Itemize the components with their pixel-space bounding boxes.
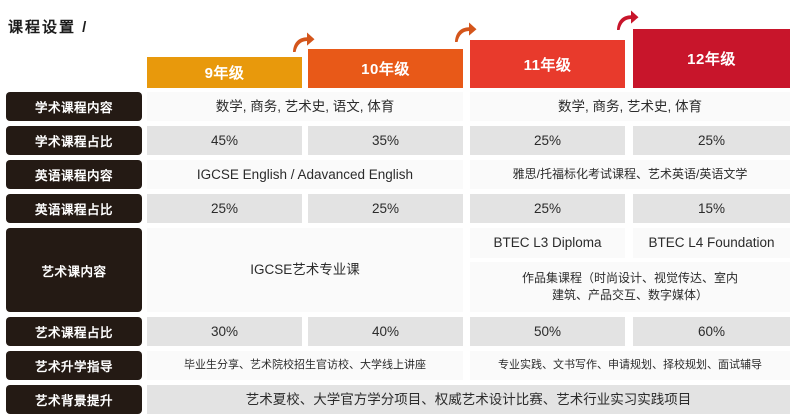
row-label-academic-ratio: 学术课程占比 — [6, 126, 142, 155]
cell-text: 毕业生分享、艺术院校招生官访校、大学线上讲座 — [184, 358, 426, 374]
row-label-text: 英语课程内容 — [35, 165, 113, 184]
cell-english-content-11-12: 雅思/托福标化考试课程、艺术英语/英语文学 — [470, 160, 790, 189]
cell-text: 25% — [698, 131, 725, 151]
cell-text: 30% — [211, 322, 238, 342]
row-label-english-ratio: 英语课程占比 — [6, 194, 142, 223]
cell-art-content-9-10: IGCSE艺术专业课 — [147, 228, 463, 312]
grade-header-12[interactable]: 12年级 — [633, 29, 790, 88]
cell-english-ratio-11: 25% — [470, 194, 625, 223]
cell-text: 专业实践、文书写作、申请规划、择校规划、面试辅导 — [498, 358, 762, 374]
cell-text: BTEC L3 Diploma — [493, 233, 601, 253]
course-settings-infographic: 课程设置 / 9年级 10年级 11年级 12年级 学术课程内容 学术课程占比 … — [0, 0, 794, 419]
row-label-text: 学术课程内容 — [35, 97, 113, 116]
cell-text: 50% — [534, 322, 561, 342]
cell-art-btec-12: BTEC L4 Foundation — [633, 228, 790, 258]
cell-art-ratio-11: 50% — [470, 317, 625, 346]
row-label-text: 学术课程占比 — [35, 131, 113, 150]
cell-english-ratio-9: 25% — [147, 194, 302, 223]
cell-text: 25% — [534, 131, 561, 151]
cell-academic-ratio-9: 45% — [147, 126, 302, 155]
row-label-text: 艺术课内容 — [41, 261, 106, 280]
row-label-text: 艺术背景提升 — [35, 390, 113, 409]
cell-text: 25% — [534, 199, 561, 219]
cell-english-ratio-12: 15% — [633, 194, 790, 223]
cell-text: 40% — [372, 322, 399, 342]
cell-text: BTEC L4 Foundation — [648, 233, 774, 253]
grade-header-10-label: 10年级 — [361, 58, 410, 79]
grade-header-12-label: 12年级 — [687, 48, 736, 69]
cell-text: IGCSE English / Adavanced English — [197, 165, 413, 185]
row-label-academic-content: 学术课程内容 — [6, 92, 142, 121]
row-label-art-guidance: 艺术升学指导 — [6, 351, 142, 380]
cell-text: 45% — [211, 131, 238, 151]
cell-text: 数学, 商务, 艺术史, 语文, 体育 — [216, 97, 395, 117]
grade-header-11-label: 11年级 — [524, 54, 572, 75]
row-label-text: 艺术升学指导 — [35, 356, 113, 375]
cell-academic-content-9-10: 数学, 商务, 艺术史, 语文, 体育 — [147, 92, 463, 121]
cell-text: 雅思/托福标化考试课程、艺术英语/英语文学 — [513, 166, 748, 183]
cell-art-portfolio-11-12: 作品集课程（时尚设计、视觉传达、室内 建筑、产品交互、数字媒体） — [470, 262, 790, 312]
cell-english-ratio-10: 25% — [308, 194, 463, 223]
row-label-art-background: 艺术背景提升 — [6, 385, 142, 414]
cell-art-ratio-10: 40% — [308, 317, 463, 346]
cell-text: 25% — [372, 199, 399, 219]
grade-header-9[interactable]: 9年级 — [147, 57, 302, 88]
cell-text: 25% — [211, 199, 238, 219]
grade-header-9-label: 9年级 — [205, 62, 245, 83]
cell-english-content-9-10: IGCSE English / Adavanced English — [147, 160, 463, 189]
cell-text: 艺术夏校、大学官方学分项目、权威艺术设计比赛、艺术行业实习实践项目 — [246, 390, 692, 410]
cell-academic-ratio-11: 25% — [470, 126, 625, 155]
cell-text: 35% — [372, 131, 399, 151]
cell-text: IGCSE艺术专业课 — [250, 260, 360, 280]
cell-academic-ratio-10: 35% — [308, 126, 463, 155]
row-label-text: 英语课程占比 — [35, 199, 113, 218]
cell-art-guidance-9-10: 毕业生分享、艺术院校招生官访校、大学线上讲座 — [147, 351, 463, 380]
cell-text: 60% — [698, 322, 725, 342]
cell-academic-content-11-12: 数学, 商务, 艺术史, 体育 — [470, 92, 790, 121]
cell-art-background-all: 艺术夏校、大学官方学分项目、权威艺术设计比赛、艺术行业实习实践项目 — [147, 385, 790, 414]
row-label-art-content: 艺术课内容 — [6, 228, 142, 312]
cell-text: 15% — [698, 199, 725, 219]
page-title: 课程设置 / — [8, 16, 88, 37]
row-label-text: 艺术课程占比 — [35, 322, 113, 341]
cell-text: 数学, 商务, 艺术史, 体育 — [558, 97, 702, 117]
row-label-art-ratio: 艺术课程占比 — [6, 317, 142, 346]
cell-art-ratio-9: 30% — [147, 317, 302, 346]
cell-art-guidance-11-12: 专业实践、文书写作、申请规划、择校规划、面试辅导 — [470, 351, 790, 380]
cell-academic-ratio-12: 25% — [633, 126, 790, 155]
cell-text: 作品集课程（时尚设计、视觉传达、室内 建筑、产品交互、数字媒体） — [522, 270, 738, 305]
grade-header-11[interactable]: 11年级 — [470, 40, 625, 88]
grade-header-10[interactable]: 10年级 — [308, 49, 463, 88]
cell-art-ratio-12: 60% — [633, 317, 790, 346]
cell-art-btec-11: BTEC L3 Diploma — [470, 228, 625, 258]
row-label-english-content: 英语课程内容 — [6, 160, 142, 189]
